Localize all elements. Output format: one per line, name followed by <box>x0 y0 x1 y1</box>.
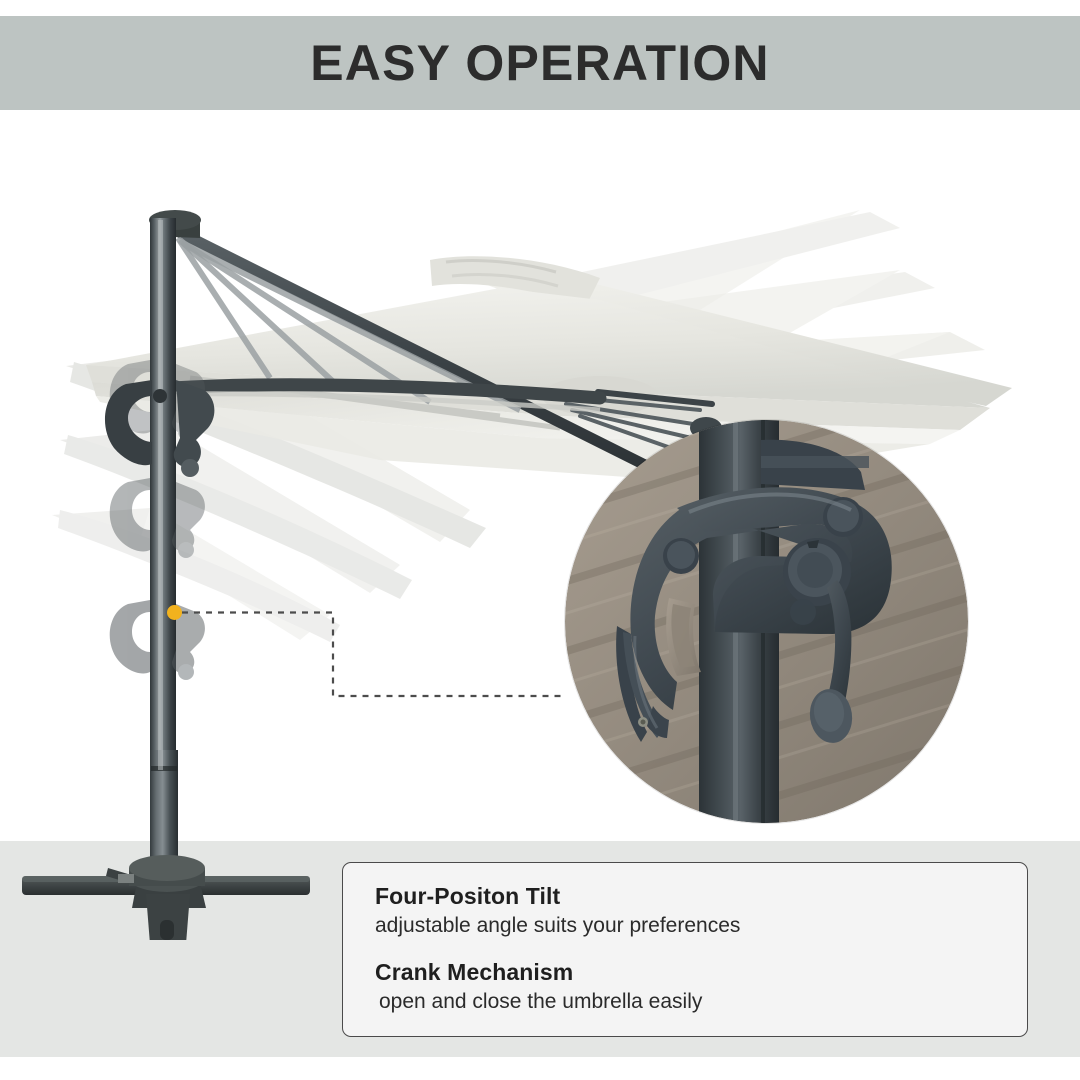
feature-item: Four-Positon Tilt adjustable angle suits… <box>375 882 1027 939</box>
crank-mechanism-detail-inset <box>565 420 968 823</box>
feature-subtitle: adjustable angle suits your preferences <box>375 912 1027 939</box>
feature-item: Crank Mechanism open and close the umbre… <box>375 958 1027 1015</box>
feature-subtitle: open and close the umbrella easily <box>375 988 1027 1015</box>
infographic-canvas: EASY OPERATION <box>0 0 1080 1080</box>
feature-title: Crank Mechanism <box>375 958 1027 986</box>
feature-callout-box: Four-Positon Tilt adjustable angle suits… <box>342 862 1028 1037</box>
tilt-handle-hotspot-dot[interactable] <box>167 605 182 620</box>
feature-title: Four-Positon Tilt <box>375 882 1027 910</box>
